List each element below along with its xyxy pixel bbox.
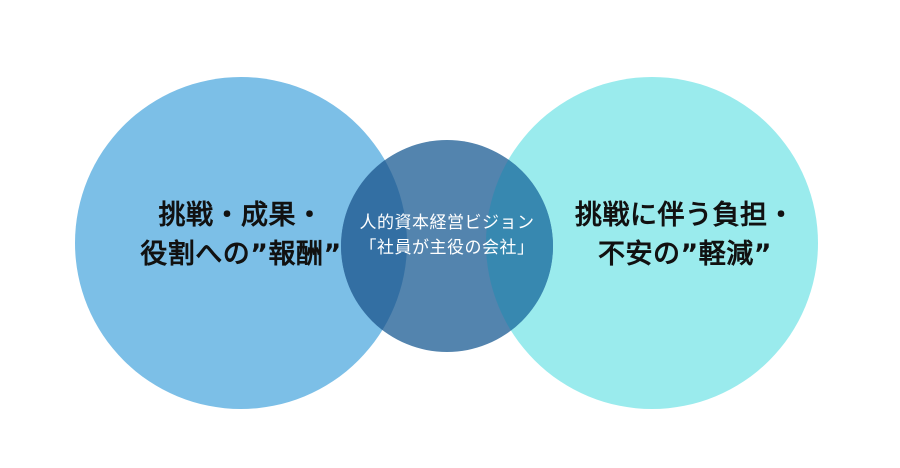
venn-diagram: 挑戦・成果・ 役割への”報酬” 人的資本経営ビジョン 「社員が主役の会社」 挑戦… bbox=[0, 0, 900, 468]
venn-canvas bbox=[0, 0, 900, 468]
